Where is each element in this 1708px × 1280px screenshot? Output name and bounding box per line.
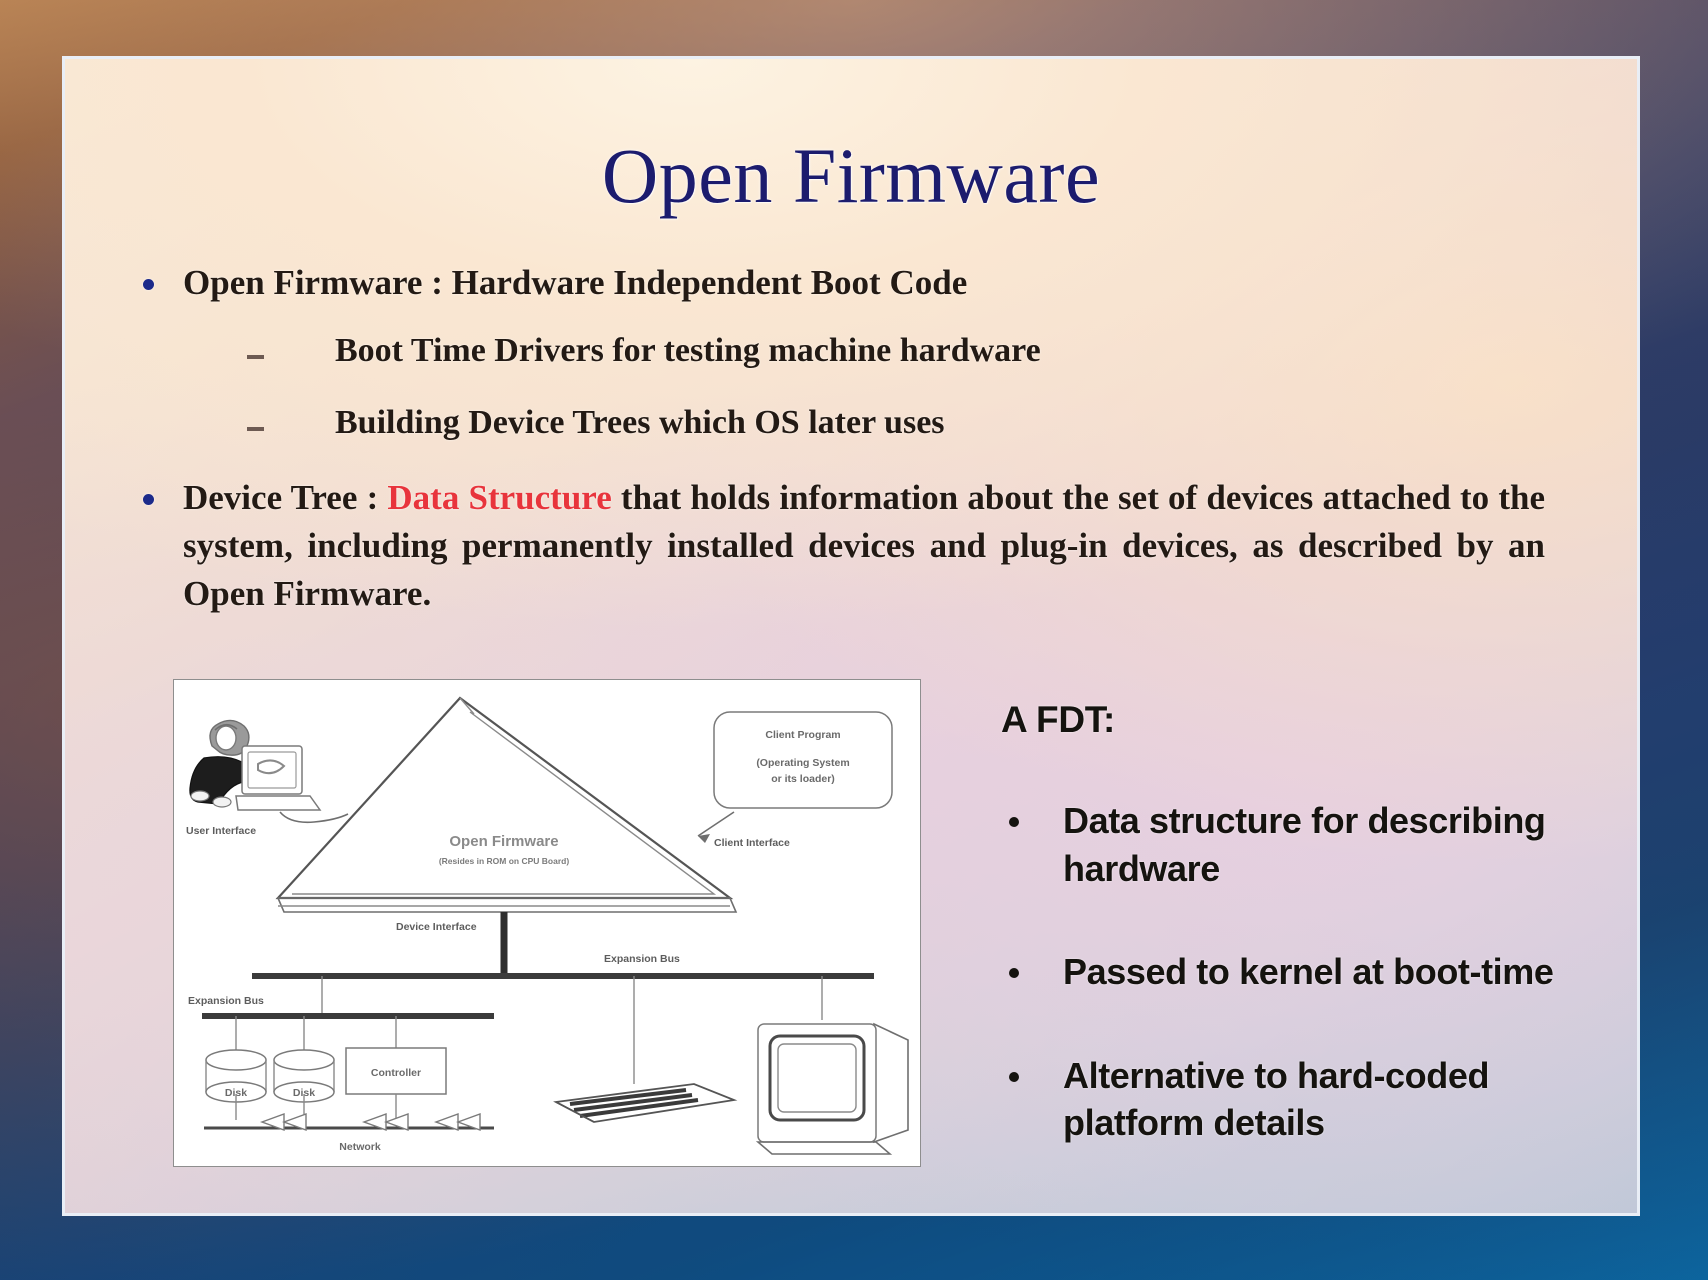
diagram-svg: .ln { fill:none; stroke:#6f6f6f; stroke-… xyxy=(174,680,921,1167)
device-tree-lead: Device Tree : xyxy=(183,478,387,517)
keyboard-icon xyxy=(556,1084,734,1122)
diagram-label-device-interface: Device Interface xyxy=(396,921,477,933)
fdt-item-alternative: Alternative to hard-coded platform detai… xyxy=(995,1052,1595,1147)
bullet-dot-icon xyxy=(143,494,154,505)
sub-bullet-item-device-trees: Building Device Trees which OS later use… xyxy=(125,401,1545,445)
diagram-label-network: Network xyxy=(339,1141,381,1153)
fdt-item-text: Data structure for describing hardware xyxy=(1063,797,1595,892)
bullet-list: Open Firmware : Hardware Independent Boo… xyxy=(125,259,1545,637)
device-tree-highlight: Data Structure xyxy=(387,478,611,517)
diagram-label-open-firmware: Open Firmware xyxy=(449,833,558,850)
open-firmware-triangle xyxy=(278,698,736,912)
fdt-item-text: Alternative to hard-coded platform detai… xyxy=(1063,1052,1595,1147)
user-workstation-icon xyxy=(190,720,348,822)
bullet-text: Open Firmware : Hardware Independent Boo… xyxy=(183,259,1545,307)
diagram-label-client-program: Client Program xyxy=(765,729,840,741)
monitor-icon xyxy=(758,1024,908,1154)
fdt-item-data-structure: Data structure for describing hardware xyxy=(995,797,1595,892)
bullet-text-device-tree: Device Tree : Data Structure that holds … xyxy=(183,474,1545,619)
bullet-dot-icon xyxy=(1009,817,1019,827)
diagram-label-open-firmware-sub: (Resides in ROM on CPU Board) xyxy=(439,856,570,866)
bullet-dot-icon xyxy=(143,279,154,290)
sub-bullet-text: Boot Time Drivers for testing machine ha… xyxy=(335,329,1545,373)
diagram-label-user-interface: User Interface xyxy=(186,825,256,837)
dash-bullet-icon xyxy=(247,355,264,359)
dash-bullet-icon xyxy=(247,427,264,431)
bullet-item-device-tree: Device Tree : Data Structure that holds … xyxy=(125,474,1545,619)
fdt-panel: A FDT: Data structure for describing har… xyxy=(995,699,1595,1147)
diagram-label-client-interface: Client Interface xyxy=(714,837,790,849)
slide-frame: Open Firmware Open Firmware : Hardware I… xyxy=(0,0,1708,1280)
slide-canvas: Open Firmware Open Firmware : Hardware I… xyxy=(62,56,1640,1216)
fdt-item-passed-to-kernel: Passed to kernel at boot-time xyxy=(995,948,1595,996)
open-firmware-architecture-diagram: .ln { fill:none; stroke:#6f6f6f; stroke-… xyxy=(173,679,921,1167)
sub-bullet-item-boot-time-drivers: Boot Time Drivers for testing machine ha… xyxy=(125,329,1545,373)
page-title: Open Firmware xyxy=(65,137,1637,215)
bullet-item-open-firmware: Open Firmware : Hardware Independent Boo… xyxy=(125,259,1545,307)
diagram-label-expansion-bus-right: Expansion Bus xyxy=(604,953,680,965)
sub-bullet-text: Building Device Trees which OS later use… xyxy=(335,401,1545,445)
diagram-label-controller: Controller xyxy=(371,1067,421,1079)
diagram-label-client-program-os: (Operating System xyxy=(756,757,849,769)
fdt-item-text: Passed to kernel at boot-time xyxy=(1063,948,1595,996)
diagram-label-expansion-bus-left: Expansion Bus xyxy=(188,995,264,1007)
diagram-label-client-program-loader: or its loader) xyxy=(771,773,835,785)
bullet-dot-icon xyxy=(1009,968,1019,978)
bullet-dot-icon xyxy=(1009,1072,1019,1082)
fdt-heading: A FDT: xyxy=(1001,699,1595,741)
